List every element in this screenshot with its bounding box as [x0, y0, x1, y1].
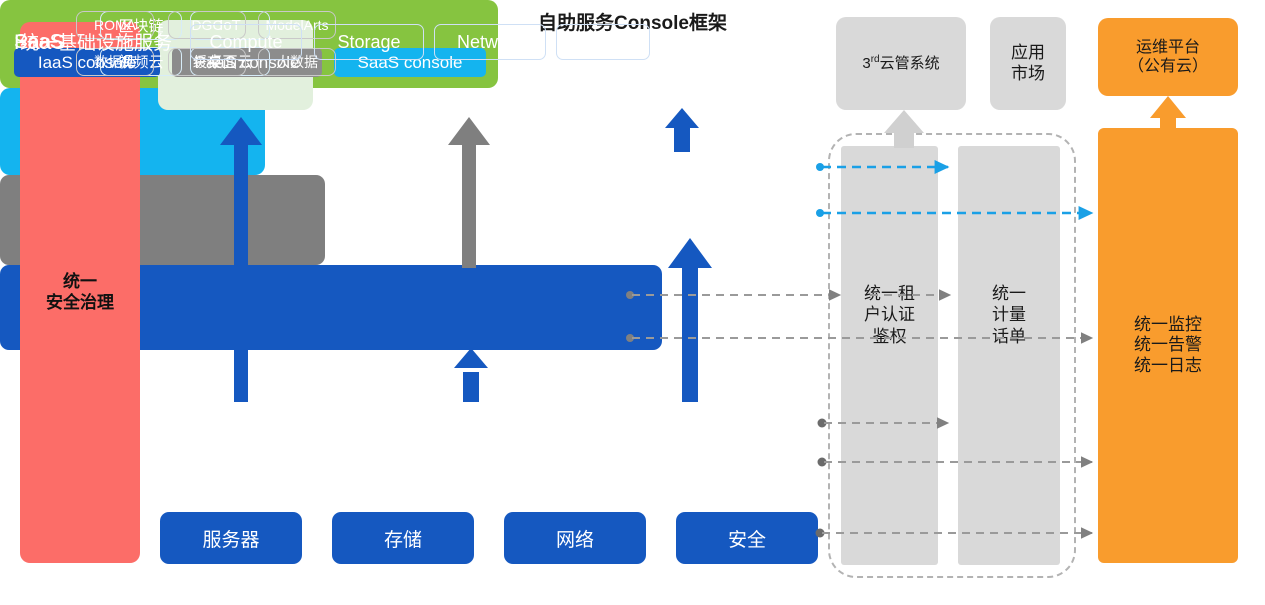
architecture-diagram: 统一 安全治理 API网关 自助服务Console框架 IaaS console…	[0, 0, 1265, 605]
dashed-arrow-saas-to-auth	[816, 163, 948, 171]
arrow-paas-to-console	[448, 117, 490, 268]
dashed-arrow-infra-to-ops-bar	[818, 458, 1093, 467]
connector-arrows-layer	[0, 0, 1265, 605]
dashed-arrow-resources-to-ops-bar	[816, 529, 1093, 538]
arrow-infra-to-api-gateway	[220, 117, 262, 402]
arrow-saas-to-console	[665, 108, 699, 152]
dashed-arrow-paas-to-auth	[626, 291, 840, 299]
arrow-shared-to-third-party	[884, 110, 924, 148]
arrow-ops-bar-to-ops-platform	[1150, 96, 1186, 130]
arrow-infra-to-saas	[668, 238, 712, 402]
arrow-infra-to-paas	[454, 348, 488, 402]
dashed-arrow-infra-to-auth	[818, 419, 949, 428]
dashed-arrow-saas-to-ops-bar	[816, 209, 1092, 217]
